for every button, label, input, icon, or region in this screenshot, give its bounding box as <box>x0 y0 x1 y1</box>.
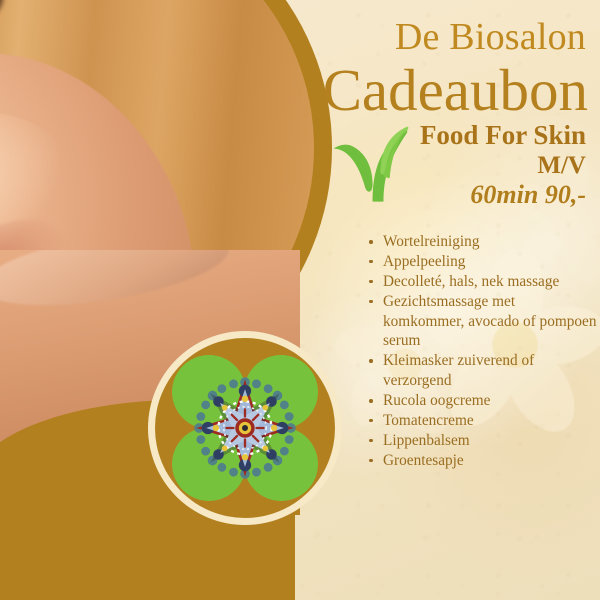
audience-label: M/V <box>537 152 586 180</box>
page-title: Cadeaubon <box>323 61 588 120</box>
brand-name: De Biosalon <box>395 18 586 56</box>
list-item: Rucola oogcreme <box>366 391 600 411</box>
list-item: Kleimasker zuiverend of verzorgend <box>366 351 600 391</box>
gift-voucher-poster: De Biosalon Cadeaubon Food For Skin M/V … <box>0 0 600 600</box>
list-item: Wortelreiniging <box>366 232 600 252</box>
list-item: Appelpeeling <box>366 252 600 272</box>
text-column: De Biosalon Cadeaubon Food For Skin M/V … <box>300 0 600 600</box>
list-item: Decolleté, hals, nek massage <box>366 272 600 292</box>
badge-inner <box>170 353 320 503</box>
list-item: Groentesapje <box>366 451 600 471</box>
list-item: Tomatencreme <box>366 411 600 431</box>
subtitle: Food For Skin <box>420 120 586 151</box>
price-label: 60min 90,- <box>470 180 586 210</box>
treatment-list: Wortelreiniging Appelpeeling Decolleté, … <box>366 232 600 471</box>
leaf-checkmark-icon <box>332 122 410 204</box>
list-item: Gezichtsmassage met komkommer, avocado o… <box>366 292 600 352</box>
mandala-flower-icon <box>192 375 298 481</box>
list-item: Lippenbalsem <box>366 431 600 451</box>
